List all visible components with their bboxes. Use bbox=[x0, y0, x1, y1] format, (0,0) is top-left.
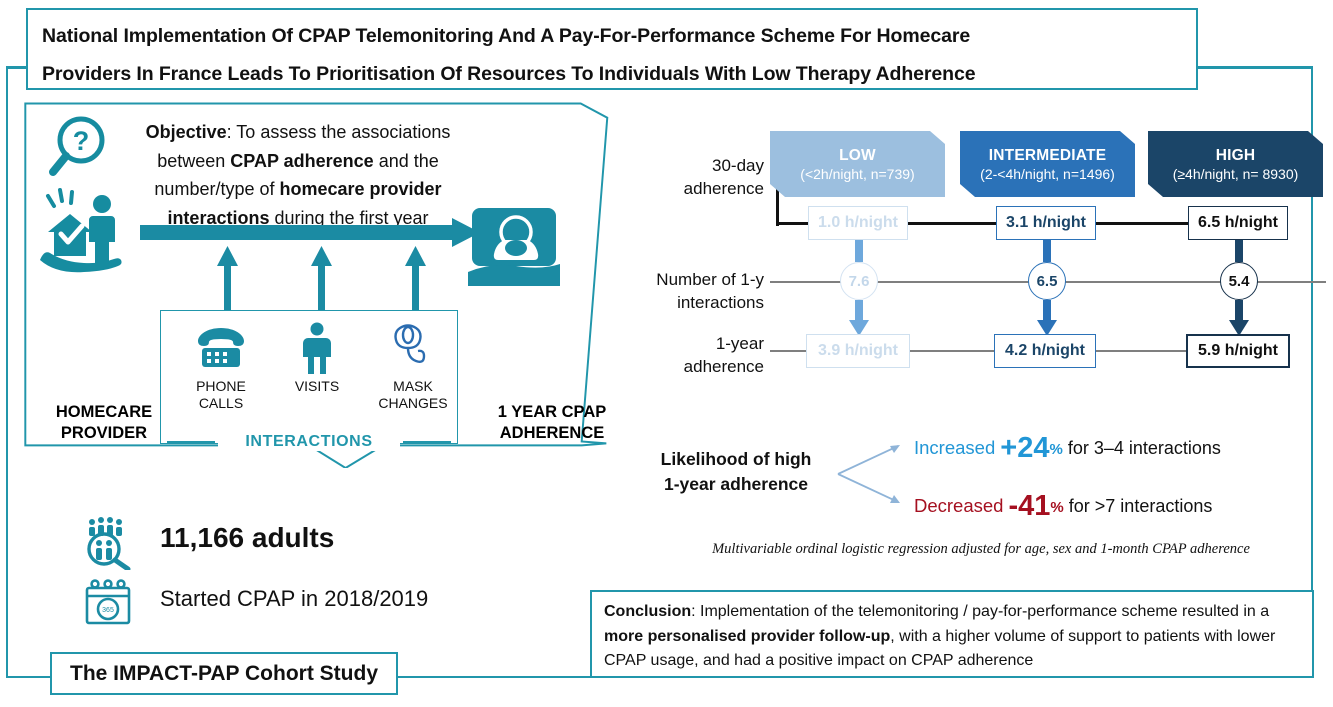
connector-1year-2 bbox=[1094, 350, 1188, 352]
connector-1year-1 bbox=[900, 350, 996, 352]
interaction-mask-label: MASK CHANGES bbox=[366, 378, 460, 412]
arrow-high-to-1year bbox=[1226, 300, 1252, 336]
connector-30day-2 bbox=[1092, 222, 1188, 225]
interaction-phone-label: PHONE CALLS bbox=[174, 378, 268, 412]
row-label-interactions: Number of 1-yinteractions bbox=[634, 268, 764, 314]
title-line-1: National Implementation Of CPAP Telemoni… bbox=[42, 17, 1182, 55]
likelihood-decreased-row: Decreased -41% for >7 interactions bbox=[914, 490, 1212, 523]
group-header-intermediate: INTERMEDIATE (2-<4h/night, n=1496) bbox=[960, 131, 1135, 197]
likelihood-label: Likelihood of high 1-year adherence bbox=[646, 447, 826, 497]
row-label-30day: 30-dayadherence bbox=[652, 154, 764, 200]
connector-30day-1 bbox=[898, 222, 996, 225]
likelihood-branch-arrows-icon bbox=[836, 440, 908, 510]
interaction-visits: VISITS bbox=[270, 322, 364, 395]
arrow-intermediate-to-1year bbox=[1034, 300, 1060, 336]
conclusion-box: Conclusion: Implementation of the telemo… bbox=[590, 590, 1314, 678]
value-30day-high: 6.5 h/night bbox=[1188, 206, 1288, 240]
statistics-footnote: Multivariable ordinal logistic regressio… bbox=[648, 541, 1314, 558]
cpap-adherence-label: 1 YEAR CPAP ADHERENCE bbox=[472, 402, 632, 444]
group-high-name: HIGH bbox=[1216, 146, 1256, 165]
homecare-provider-label: HOMECARE PROVIDER bbox=[28, 402, 180, 444]
value-1year-high: 5.9 h/night bbox=[1186, 334, 1290, 368]
interaction-mask-line2: CHANGES bbox=[366, 395, 460, 412]
people-magnifier-icon bbox=[82, 516, 136, 570]
value-30day-low: 1.0 h/night bbox=[808, 206, 908, 240]
bracket-horizontal bbox=[776, 222, 810, 225]
interaction-phone-calls: PHONE CALLS bbox=[174, 322, 268, 412]
arrow-intermediate-to-interactions bbox=[1038, 240, 1056, 262]
likelihood-increased-word: Increased bbox=[914, 437, 995, 458]
svg-text:365: 365 bbox=[102, 607, 114, 614]
value-interactions-intermediate: 6.5 bbox=[1028, 262, 1066, 300]
homecare-provider-icon bbox=[36, 186, 132, 282]
outer-frame-top-left bbox=[6, 66, 28, 69]
conclusion-label: Conclusion bbox=[604, 603, 691, 620]
row-label-1year: 1-yearadherence bbox=[650, 332, 764, 378]
interaction-mask-line1: MASK bbox=[366, 378, 460, 395]
group-low-name: LOW bbox=[839, 146, 876, 165]
group-low-sub: (<2h/night, n=739) bbox=[800, 165, 914, 183]
arrow-high-to-interactions bbox=[1230, 240, 1248, 262]
likelihood-decreased-sign: - bbox=[1008, 490, 1018, 522]
interaction-phone-line2: CALLS bbox=[174, 395, 268, 412]
interactions-rule-left bbox=[167, 441, 215, 443]
homecare-label-line1: HOMECARE bbox=[28, 402, 180, 423]
likelihood-decreased-word: Decreased bbox=[914, 495, 1003, 516]
outer-frame-top-right bbox=[1196, 66, 1313, 69]
group-header-high: HIGH (≥4h/night, n= 8930) bbox=[1148, 131, 1323, 197]
conclusion-part-1: : Implementation of the telemonitoring /… bbox=[691, 603, 1269, 620]
study-name-label: The IMPACT-PAP Cohort Study bbox=[70, 662, 378, 686]
cpap-label-line1: 1 YEAR CPAP bbox=[472, 402, 632, 423]
interaction-visits-line1: VISITS bbox=[270, 378, 364, 395]
value-1year-intermediate: 4.2 h/night bbox=[994, 334, 1096, 368]
telephone-icon bbox=[174, 322, 268, 374]
interaction-mask-changes: MASK CHANGES bbox=[366, 322, 460, 412]
likelihood-increased-pct: % bbox=[1049, 441, 1062, 458]
graphical-abstract: National Implementation Of CPAP Telemoni… bbox=[0, 0, 1333, 707]
cohort-adults-count: 11,166 adults bbox=[160, 522, 334, 554]
study-name-box: The IMPACT-PAP Cohort Study bbox=[50, 652, 398, 695]
group-high-sub: (≥4h/night, n= 8930) bbox=[1173, 165, 1299, 183]
value-30day-intermediate: 3.1 h/night bbox=[996, 206, 1096, 240]
likelihood-increased-row: Increased +24% for 3–4 interactions bbox=[914, 432, 1221, 465]
objective-bold-1: CPAP adherence bbox=[230, 151, 373, 171]
interaction-phone-line1: PHONE bbox=[174, 378, 268, 395]
calendar-365-icon: 365 bbox=[84, 578, 132, 626]
interaction-visits-label: VISITS bbox=[270, 378, 364, 395]
title-box: National Implementation Of CPAP Telemoni… bbox=[26, 8, 1198, 90]
likelihood-increased-sign: + bbox=[1000, 432, 1017, 464]
conclusion-text: Conclusion: Implementation of the telemo… bbox=[604, 600, 1300, 674]
value-interactions-high: 5.4 bbox=[1220, 262, 1258, 300]
objective-text: Objective: To assess the associations be… bbox=[122, 118, 474, 232]
group-header-low: LOW (<2h/night, n=739) bbox=[770, 131, 945, 197]
objective-label: Objective bbox=[146, 122, 227, 142]
homecare-label-line2: PROVIDER bbox=[28, 423, 180, 444]
value-interactions-low: 7.6 bbox=[840, 262, 878, 300]
group-intermediate-name: INTERMEDIATE bbox=[989, 146, 1107, 165]
objective-panel: ? Objective: To assess the associations … bbox=[22, 102, 616, 468]
likelihood-label-line2: 1-year adherence bbox=[646, 472, 826, 497]
cohort-started-text: Started CPAP in 2018/2019 bbox=[160, 586, 428, 612]
likelihood-increased-tail: for 3–4 interactions bbox=[1068, 438, 1221, 458]
cpap-patient-icon bbox=[466, 206, 562, 292]
arrow-low-to-interactions bbox=[850, 240, 868, 262]
likelihood-label-line1: Likelihood of high bbox=[646, 447, 826, 472]
person-icon bbox=[270, 322, 364, 374]
cpap-mask-icon bbox=[366, 322, 460, 374]
conclusion-bold: more personalised provider follow-up bbox=[604, 628, 890, 645]
likelihood-decreased-pct: % bbox=[1050, 499, 1063, 516]
likelihood-decreased-value: 41 bbox=[1018, 490, 1050, 522]
magnifier-question-icon: ? bbox=[46, 114, 112, 180]
value-1year-low: 3.9 h/night bbox=[806, 334, 910, 368]
likelihood-increased-value: 24 bbox=[1017, 432, 1049, 464]
cpap-label-line2: ADHERENCE bbox=[472, 423, 632, 444]
likelihood-decreased-tail: for >7 interactions bbox=[1069, 496, 1213, 516]
interactions-label: INTERACTIONS bbox=[218, 433, 400, 451]
interactions-rule-right bbox=[403, 441, 451, 443]
arrow-low-to-1year bbox=[846, 300, 872, 336]
svg-text:?: ? bbox=[73, 126, 90, 156]
group-intermediate-sub: (2-<4h/night, n=1496) bbox=[980, 165, 1115, 183]
title-line-2: Providers In France Leads To Prioritisat… bbox=[42, 55, 1182, 93]
